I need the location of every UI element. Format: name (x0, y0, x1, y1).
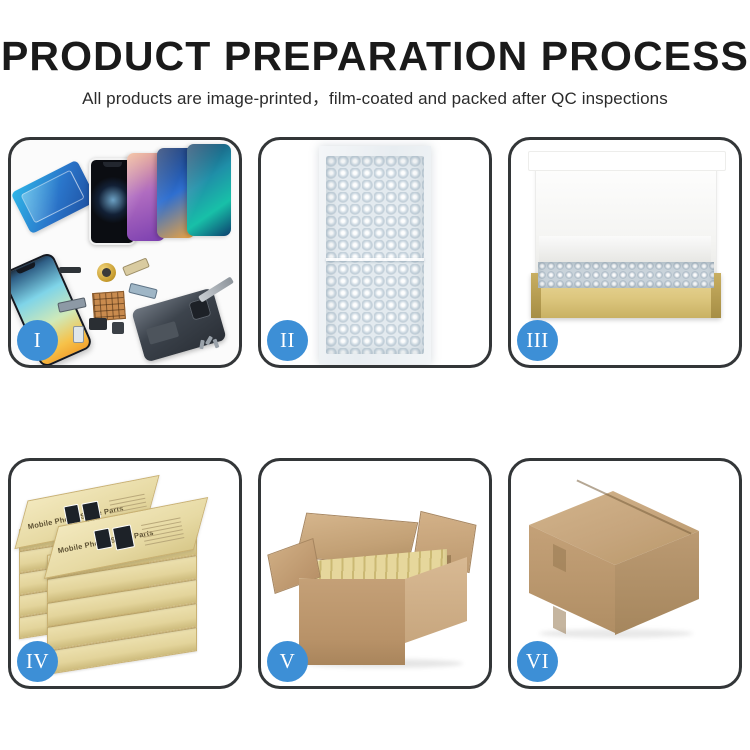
bubble-wrap-icon (326, 156, 424, 354)
page-title: PRODUCT PREPARATION PROCESS (0, 0, 750, 79)
step-card-2: II (258, 137, 492, 368)
step-badge-6: VI (517, 641, 558, 682)
vibrator-motor-icon (112, 322, 124, 334)
step-card-1: I (8, 137, 242, 368)
screen-protector-film-icon (11, 160, 97, 235)
chip-icon (59, 267, 81, 273)
product-preparation-infographic: PRODUCT PREPARATION PROCESS All products… (0, 0, 750, 750)
pouch-seam (326, 258, 424, 261)
camera-module-icon (89, 318, 107, 330)
step-badge-2: II (267, 320, 308, 361)
speaker-module-icon (97, 263, 116, 282)
step-card-6: VI (508, 458, 742, 689)
header: PRODUCT PREPARATION PROCESS All products… (0, 0, 750, 109)
carton-front-face (299, 579, 405, 665)
step-card-4: Mobile Phone Spare Parts Mobile Phone Sp… (8, 458, 242, 689)
step-badge-1: I (17, 320, 58, 361)
phone-teal-icon (187, 144, 231, 236)
page-subtitle: All products are image-printed，film-coat… (0, 79, 750, 109)
foam-insert-icon (539, 236, 711, 262)
step-badge-3: III (517, 320, 558, 361)
flex-cable-icon (128, 283, 158, 299)
step-card-3: III (508, 137, 742, 368)
circuit-board-icon (92, 291, 126, 321)
phone-back-housing-icon (131, 287, 227, 362)
flex-cable-icon (122, 257, 150, 276)
sim-tray-icon (73, 326, 84, 343)
box-art-screen-icon (112, 524, 135, 550)
steps-grid: I II III (8, 137, 742, 689)
step-card-5: V (258, 458, 492, 689)
step-badge-5: V (267, 641, 308, 682)
step-badge-4: IV (17, 641, 58, 682)
bubble-wrapped-contents-icon (538, 262, 714, 288)
screw-icon (199, 340, 205, 350)
